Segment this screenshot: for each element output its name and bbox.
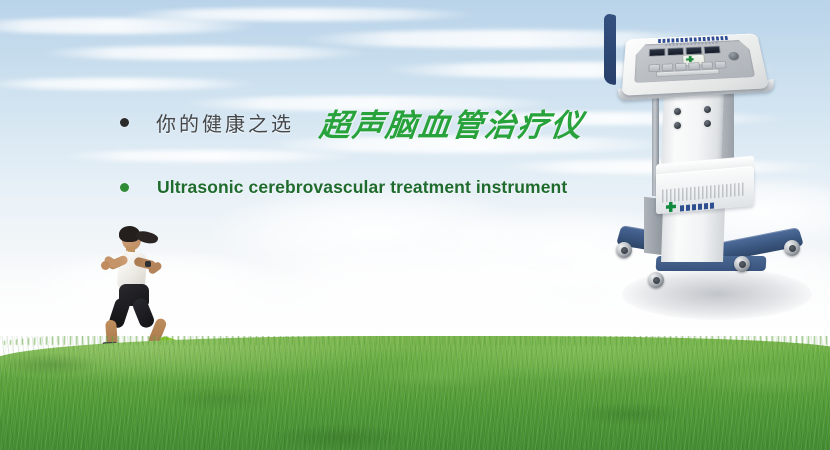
runner-watch [145,261,151,267]
connector-port[interactable] [704,120,711,127]
headline-text: 超声脑血管治疗仪 [317,100,587,145]
caster-wheel [616,242,632,258]
connector-port[interactable] [674,122,681,129]
subline-row: Ultrasonic cerebrovascular treatment ins… [120,177,567,198]
caster-hub [739,261,746,268]
panel-cross-icon [686,56,694,62]
headline-row: 你的健康之选 超声脑血管治疗仪 [120,100,584,145]
caster-wheel [648,272,664,288]
green-cross-logo-icon [666,202,676,213]
grass-field [0,336,830,450]
ultrasonic-treatment-trolley [608,10,824,322]
bullet-green-icon [120,183,129,192]
display-window [667,47,684,55]
cart-lower-cabinet [661,206,725,262]
caster-hub [789,245,796,252]
display-window [649,48,666,56]
connector-port[interactable] [704,106,711,113]
panel-button[interactable] [714,61,726,69]
connector-port[interactable] [674,108,681,115]
caster-hub [653,277,660,284]
caster-wheel [734,256,750,272]
runner-thigh-back [131,296,156,329]
kicker-text: 你的健康之选 [156,108,294,137]
caster-hub [621,247,628,254]
runner-fist-front [101,261,110,270]
display-window [704,46,721,54]
bullet-dark-icon [120,118,129,127]
grass-fringe [0,336,830,345]
promo-banner: 你的健康之选 超声脑血管治疗仪 Ultrasonic cerebrovascul… [0,0,830,450]
control-console [622,33,770,95]
caster-wheel [784,240,800,256]
grass-mottle [0,336,830,450]
subline-text: Ultrasonic cerebrovascular treatment ins… [157,177,567,198]
console-side-panel [604,13,616,86]
